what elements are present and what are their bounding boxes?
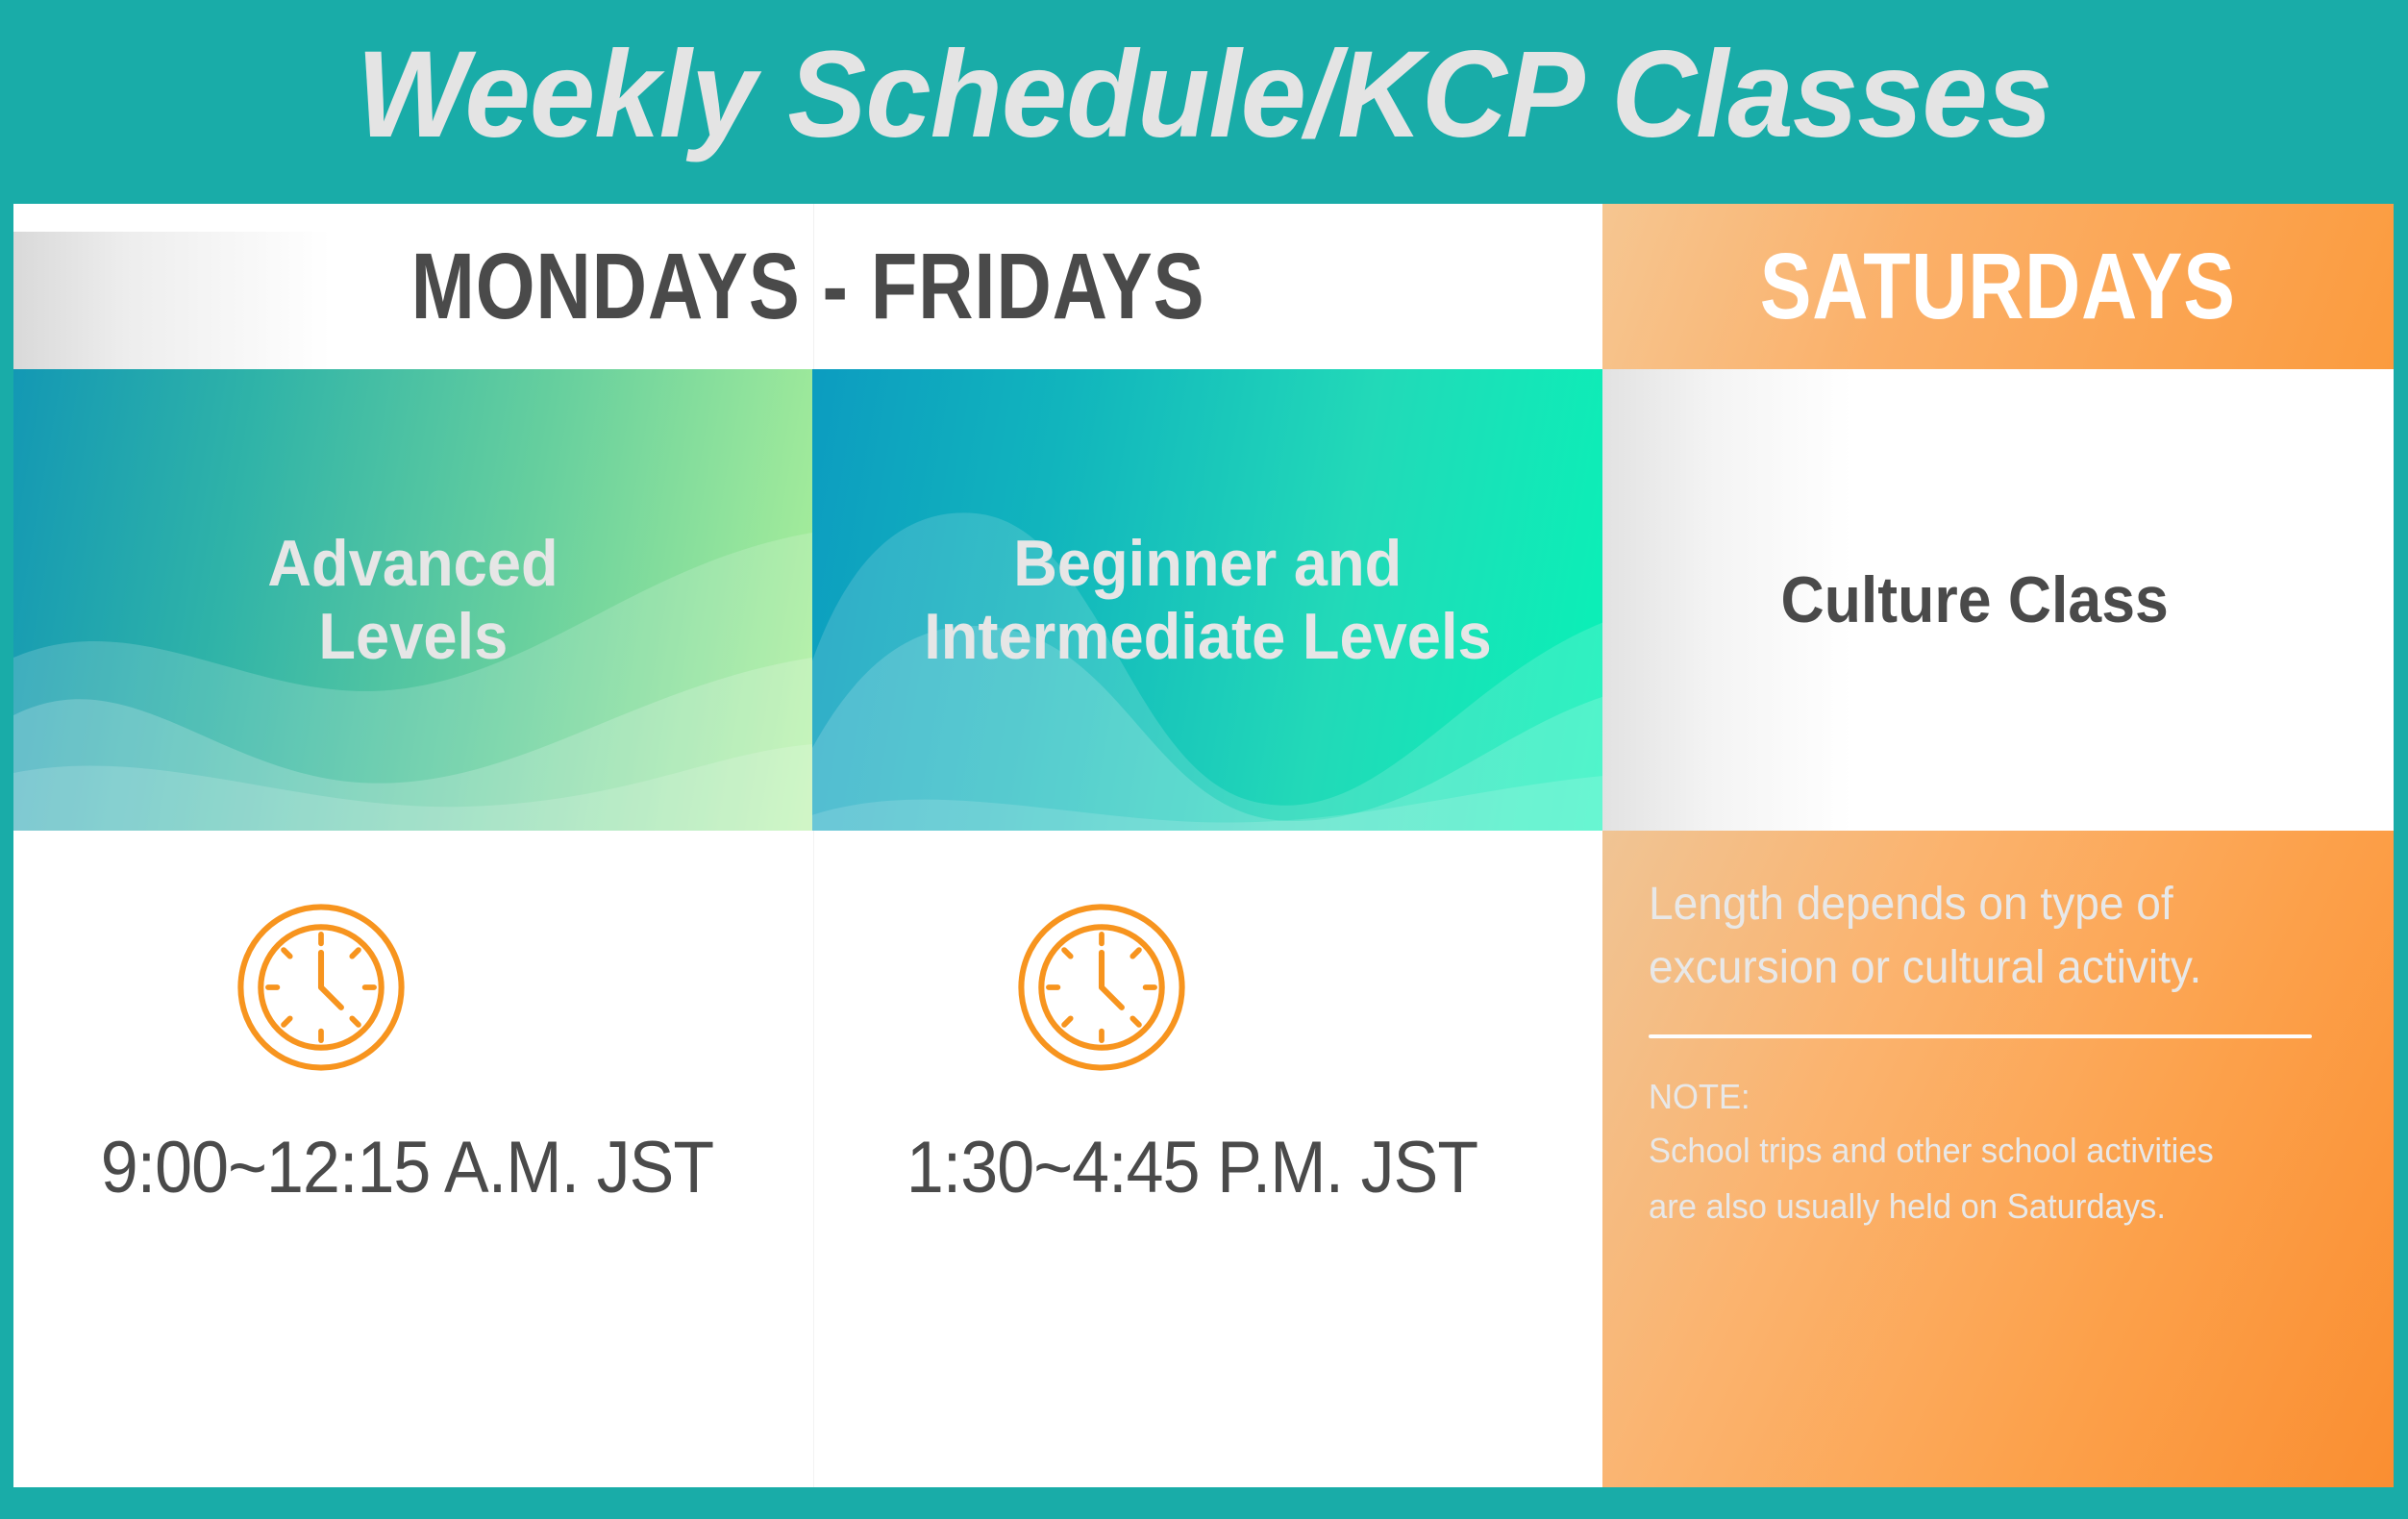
- title-banner: Weekly Schedule/KCP Classes: [0, 0, 2408, 204]
- culture-class-label-wrap: Culture Class: [1602, 369, 2394, 831]
- note-label: NOTE:: [1649, 1075, 2336, 1120]
- advanced-time-label: 9:00~12:15 A.M. JST: [101, 1126, 713, 1209]
- advanced-levels-cell: Advanced Levels: [13, 369, 812, 831]
- clock-icon-graphic: [1010, 896, 1193, 1079]
- weekday-header-label: MONDAYS - FRIDAYS: [411, 233, 1205, 340]
- beginner-line1: Beginner and: [1013, 527, 1402, 600]
- clock-icon-graphic: [230, 896, 412, 1079]
- level-row: Advanced Levels Beginner and Intermediat…: [13, 369, 2394, 831]
- header-column-divider: [813, 204, 814, 369]
- time-column-divider: [813, 831, 814, 1487]
- beginner-intermediate-label: Beginner and Intermediate Levels: [812, 369, 1602, 831]
- advanced-time-cell: 9:00~12:15 A.M. JST: [13, 831, 812, 1487]
- culture-class-label: Culture Class: [1781, 562, 2169, 637]
- saturday-description-line2: excursion or cultural activity.: [1649, 936, 2336, 1000]
- column-header-row: MONDAYS - FRIDAYS SATURDAYS: [13, 204, 2394, 369]
- culture-class-cell: Culture Class: [1602, 369, 2394, 831]
- advanced-levels-label: Advanced Levels: [13, 369, 812, 831]
- clock-icon: [1010, 896, 1193, 1083]
- beginner-time-label: 1:30~4:45 P.M. JST: [906, 1126, 1477, 1209]
- advanced-levels-line1: Advanced: [267, 527, 558, 600]
- clock-icon: [230, 896, 412, 1083]
- column-header-weekdays: MONDAYS - FRIDAYS: [13, 204, 1602, 369]
- time-row: 9:00~12:15 A.M. JST: [13, 831, 2394, 1487]
- saturday-description-line1: Length depends on type of: [1649, 873, 2336, 936]
- beginner-line2: Intermediate Levels: [924, 600, 1492, 673]
- weekly-schedule-poster: Weekly Schedule/KCP Classes MONDAYS - FR…: [0, 0, 2408, 1519]
- schedule-card: MONDAYS - FRIDAYS SATURDAYS Advanced Lev…: [13, 204, 2394, 1487]
- beginner-time-cell: 1:30~4:45 P.M. JST: [812, 831, 1602, 1487]
- column-header-saturdays: SATURDAYS: [1602, 204, 2394, 369]
- advanced-levels-line2: Levels: [318, 600, 508, 673]
- note-body-line2: are also usually held on Saturdays.: [1649, 1182, 2336, 1232]
- note-body-line1: School trips and other school activities: [1649, 1126, 2336, 1176]
- saturday-note-cell: Length depends on type of excursion or c…: [1602, 831, 2394, 1487]
- beginner-intermediate-cell: Beginner and Intermediate Levels: [812, 369, 1602, 831]
- note-divider: [1649, 1034, 2312, 1038]
- saturday-header-label: SATURDAYS: [1760, 233, 2236, 340]
- page-title: Weekly Schedule/KCP Classes: [357, 34, 2052, 170]
